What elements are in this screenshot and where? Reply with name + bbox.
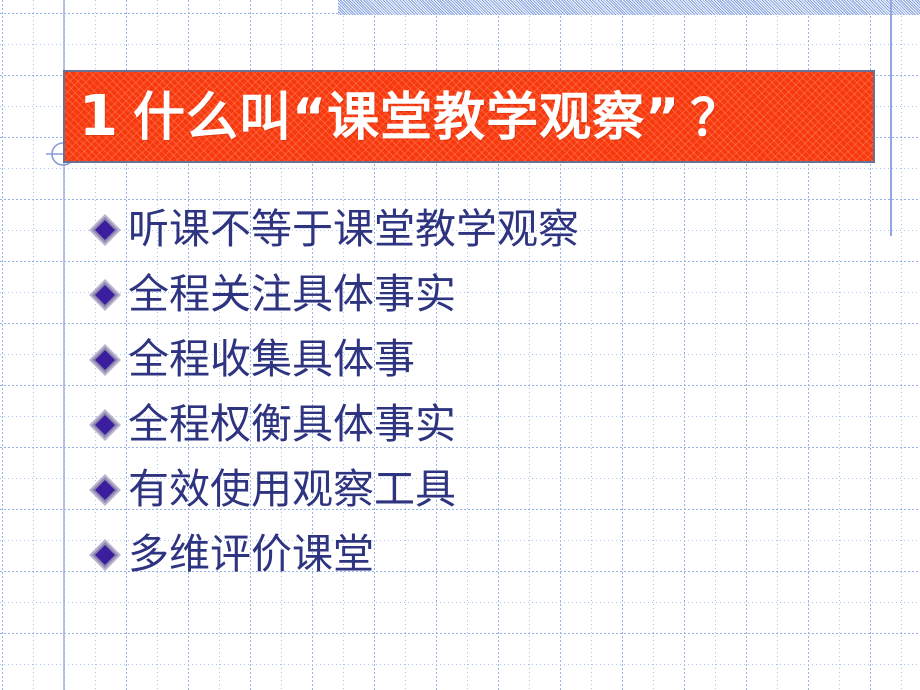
guide-line-vertical-right — [890, 0, 892, 236]
title-question-mark: ？ — [680, 89, 741, 147]
diamond-bullet-icon — [88, 408, 122, 442]
list-item[interactable]: 多维评价课堂 — [88, 522, 888, 587]
title-main-text: 什么叫“课堂教学观察” — [133, 88, 680, 148]
title-number: 1 — [79, 84, 133, 149]
top-dither-band — [338, 0, 920, 15]
list-item-label: 全程关注具体事实 — [128, 274, 456, 315]
list-item-label: 听课不等于课堂教学观察 — [128, 209, 579, 250]
bullet-list: 听课不等于课堂教学观察 全程关注具体事实 全程收集具体事 — [88, 197, 888, 587]
grid-line-horizontal — [0, 633, 920, 634]
diamond-bullet-icon — [88, 213, 122, 247]
list-item[interactable]: 听课不等于课堂教学观察 — [88, 197, 888, 262]
diamond-bullet-icon — [88, 278, 122, 312]
grid-line-horizontal — [0, 602, 920, 603]
page-title: 1什么叫“课堂教学观察”？ — [65, 89, 741, 145]
list-item[interactable]: 全程收集具体事 — [88, 327, 888, 392]
list-item[interactable]: 有效使用观察工具 — [88, 457, 888, 522]
list-item-label: 全程收集具体事 — [128, 339, 415, 380]
title-banner[interactable]: 1什么叫“课堂教学观察”？ — [63, 70, 875, 163]
grid-line-horizontal — [0, 168, 920, 169]
diamond-bullet-icon — [88, 473, 122, 507]
list-item-label: 有效使用观察工具 — [128, 469, 456, 510]
grid-line-horizontal — [0, 664, 920, 665]
list-item[interactable]: 全程权衡具体事实 — [88, 392, 888, 457]
list-item-label: 多维评价课堂 — [128, 534, 374, 575]
grid-line-vertical — [2, 0, 3, 690]
diamond-bullet-icon — [88, 538, 122, 572]
list-item[interactable]: 全程关注具体事实 — [88, 262, 888, 327]
slide-canvas: 1什么叫“课堂教学观察”？ 听课不等于课堂教学观察 — [0, 0, 920, 690]
list-item-label: 全程权衡具体事实 — [128, 404, 456, 445]
grid-line-vertical — [901, 0, 902, 690]
diamond-bullet-icon — [88, 343, 122, 377]
grid-line-horizontal — [0, 44, 920, 45]
grid-line-vertical — [33, 0, 34, 690]
grid-line-horizontal — [0, 13, 920, 14]
